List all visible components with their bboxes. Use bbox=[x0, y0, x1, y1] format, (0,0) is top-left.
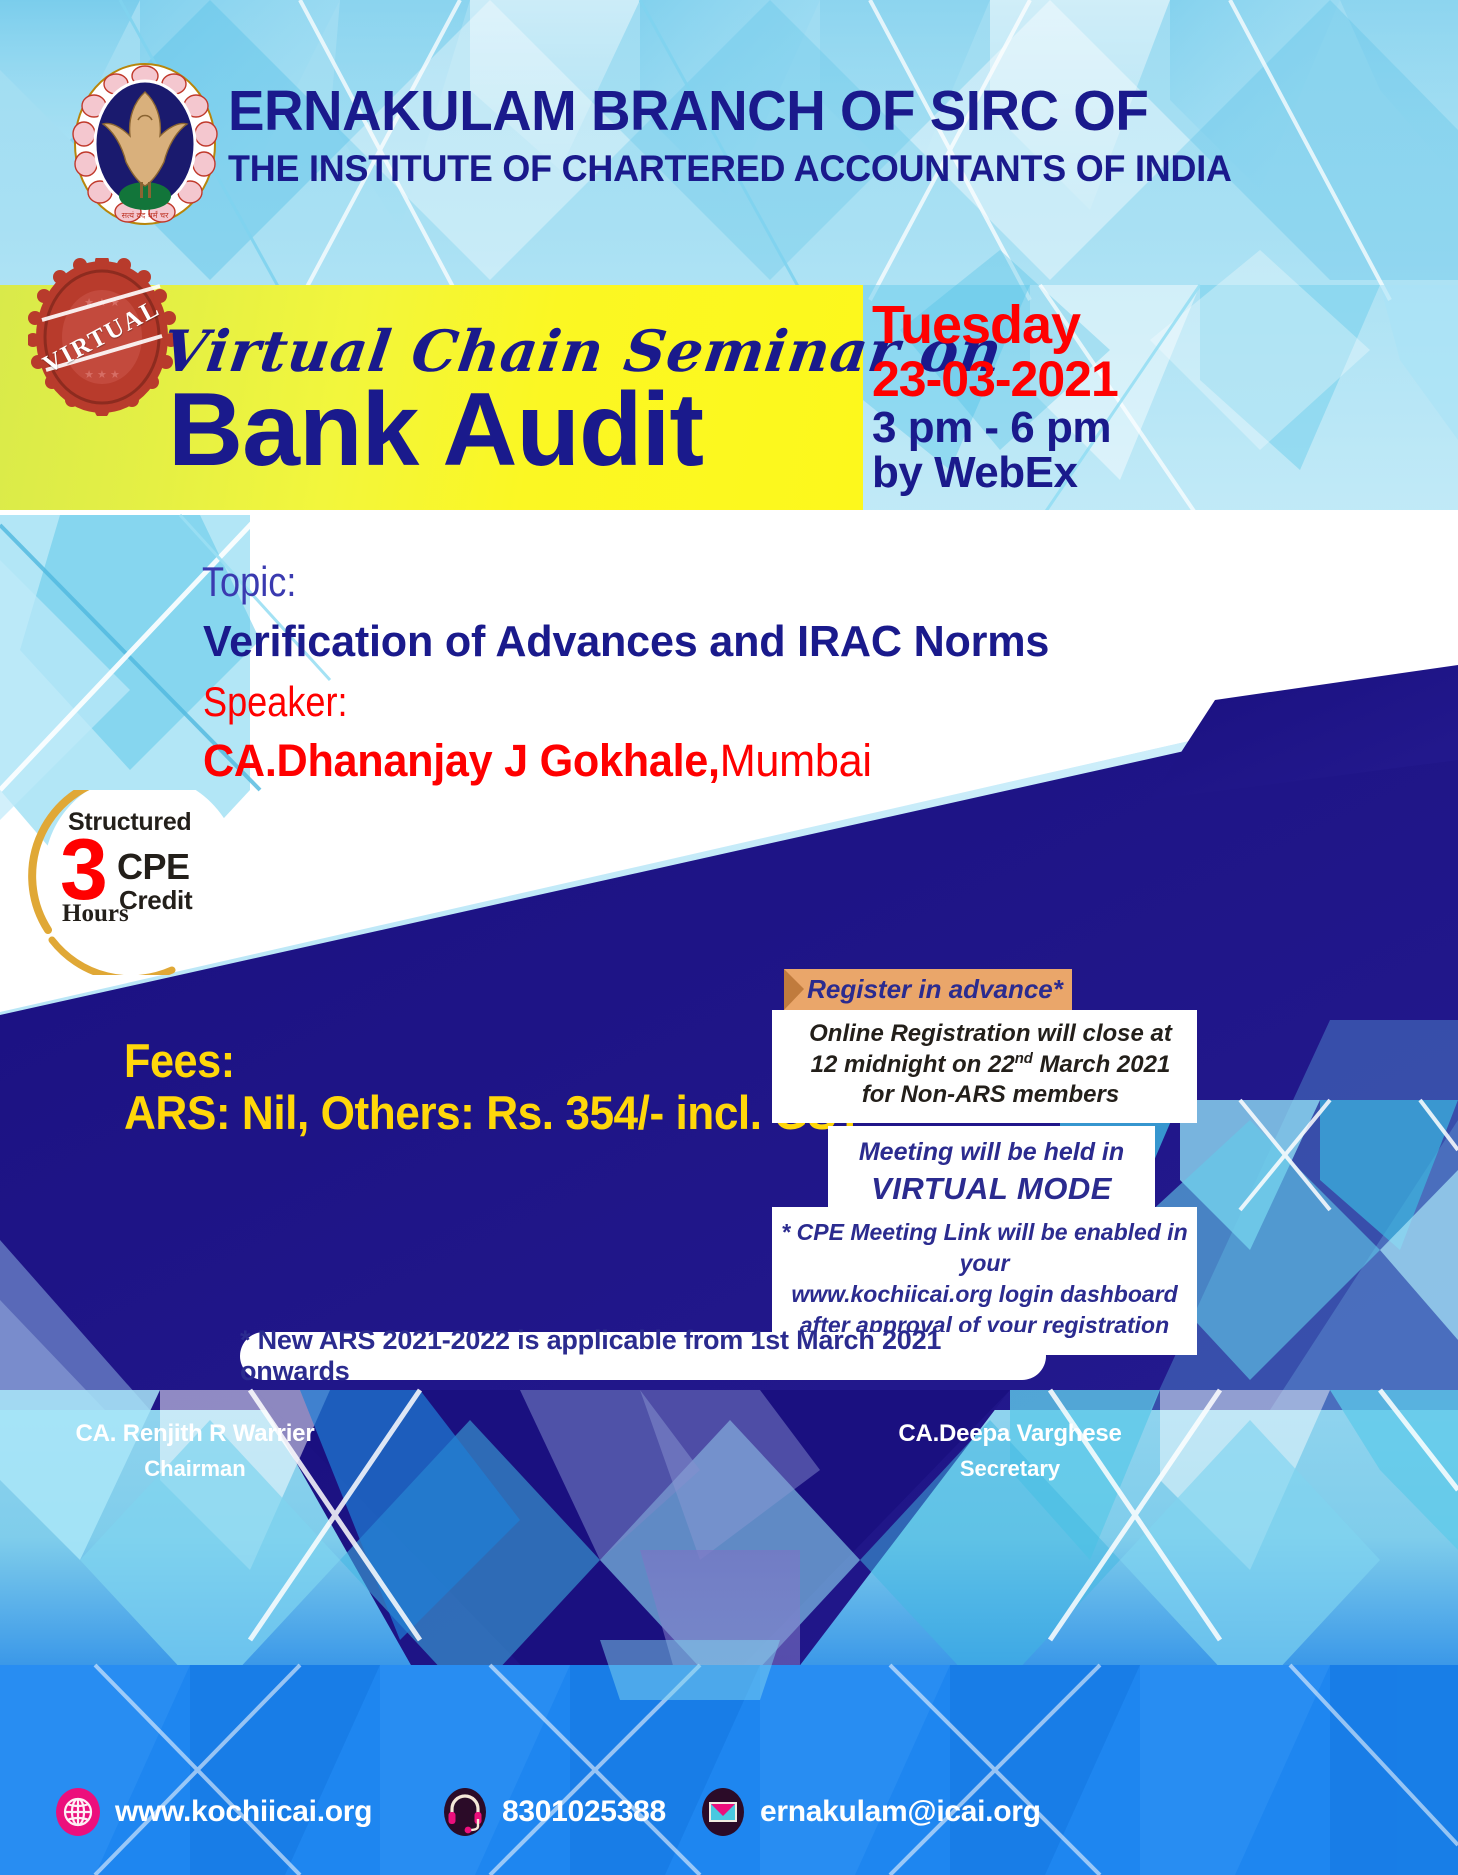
schedule-date: 23-03-2021 bbox=[872, 354, 1172, 406]
speaker-label: Speaker: bbox=[203, 678, 348, 726]
chairman-name: CA. Renjith R Warrier bbox=[55, 1416, 335, 1452]
icai-emblem-icon: सत्यं वद धर्मं चर bbox=[70, 62, 220, 227]
speaker-name: CA.Dhananjay J Gokhale, bbox=[203, 735, 720, 786]
svg-text:सत्यं वद धर्मं चर: सत्यं वद धर्मं चर bbox=[122, 210, 169, 220]
contact-website[interactable]: www.kochiicai.org bbox=[55, 1787, 372, 1837]
ordinal-suffix: nd bbox=[1015, 1051, 1033, 1067]
website-text: www.kochiicai.org bbox=[115, 1795, 372, 1829]
cpe-label: CPE bbox=[117, 846, 190, 888]
speaker-value: CA.Dhananjay J Gokhale,Mumbai bbox=[203, 735, 872, 787]
virtual-mode-line2: VIRTUAL MODE bbox=[838, 1169, 1145, 1209]
contact-email[interactable]: ernakulam@icai.org bbox=[700, 1787, 1041, 1837]
ribbon-fold-decoration bbox=[784, 969, 804, 1010]
fees-value: ARS: Nil, Others: Rs. 354/- incl. GST bbox=[124, 1085, 863, 1140]
cpe-link-line2: www.kochiicai.org login dashboard bbox=[780, 1279, 1189, 1310]
chairman-role: Chairman bbox=[55, 1452, 335, 1485]
schedule-platform: by WebEx bbox=[872, 450, 1172, 495]
registration-note-line3: for Non-ARS members bbox=[798, 1080, 1183, 1111]
secretary-role: Secretary bbox=[870, 1452, 1150, 1485]
cpe-hours-label: Hours bbox=[62, 900, 129, 928]
speaker-city: Mumbai bbox=[720, 735, 872, 786]
fees-label: Fees: bbox=[124, 1033, 235, 1088]
contact-row: www.kochiicai.org 8301025388 ernakulam@i… bbox=[0, 1787, 1458, 1857]
globe-icon bbox=[55, 1787, 101, 1837]
official-secretary: CA.Deepa Varghese Secretary bbox=[870, 1416, 1150, 1485]
virtual-stamp-badge: ★ ★ ★ ★ ★ ★ VIRTUAL bbox=[28, 258, 176, 416]
official-chairman: CA. Renjith R Warrier Chairman bbox=[55, 1416, 335, 1485]
schedule-time: 3 pm - 6 pm bbox=[872, 405, 1172, 450]
contact-phone[interactable]: 8301025388 bbox=[442, 1787, 666, 1837]
organization-name-line1: ERNAKULAM BRANCH OF SIRC OF bbox=[228, 78, 1148, 144]
envelope-icon bbox=[700, 1787, 746, 1837]
registration-note-line1: Online Registration will close at bbox=[798, 1019, 1183, 1050]
organization-name-line2: THE INSTITUTE OF CHARTERED ACCOUNTANTS O… bbox=[228, 148, 1232, 190]
registration-note-line2: 12 midnight on 22nd March 2021 bbox=[798, 1050, 1183, 1081]
headset-icon bbox=[442, 1787, 488, 1837]
cpe-link-line1: * CPE Meeting Link will be enabled in yo… bbox=[780, 1217, 1189, 1279]
phone-text: 8301025388 bbox=[502, 1795, 666, 1829]
ars-applicability-note: * New ARS 2021-2022 is applicable from 1… bbox=[240, 1332, 1046, 1380]
register-in-advance-ribbon: Register in advance* bbox=[784, 969, 1072, 1010]
schedule-block: Tuesday 23-03-2021 3 pm - 6 pm by WebEx bbox=[872, 298, 1172, 496]
ars-note-text: * New ARS 2021-2022 is applicable from 1… bbox=[240, 1325, 1046, 1387]
poster-canvas: सत्यं वद धर्मं चर ERNAKULAM BRANCH OF SI… bbox=[0, 0, 1458, 1875]
virtual-mode-line1: Meeting will be held in bbox=[838, 1136, 1145, 1169]
schedule-day: Tuesday bbox=[872, 298, 1172, 354]
topic-label: Topic: bbox=[202, 558, 296, 606]
topic-value: Verification of Advances and IRAC Norms bbox=[203, 617, 1049, 667]
registration-deadline-note: Online Registration will close at 12 mid… bbox=[772, 1010, 1197, 1123]
secretary-name: CA.Deepa Varghese bbox=[870, 1416, 1150, 1452]
seminar-main-title: Bank Audit bbox=[168, 378, 703, 482]
cpe-credit-label: Credit bbox=[119, 885, 192, 916]
email-text: ernakulam@icai.org bbox=[760, 1795, 1041, 1829]
register-in-advance-label: Register in advance* bbox=[793, 974, 1063, 1005]
poster-header: सत्यं वद धर्मं चर ERNAKULAM BRANCH OF SI… bbox=[0, 0, 1458, 235]
